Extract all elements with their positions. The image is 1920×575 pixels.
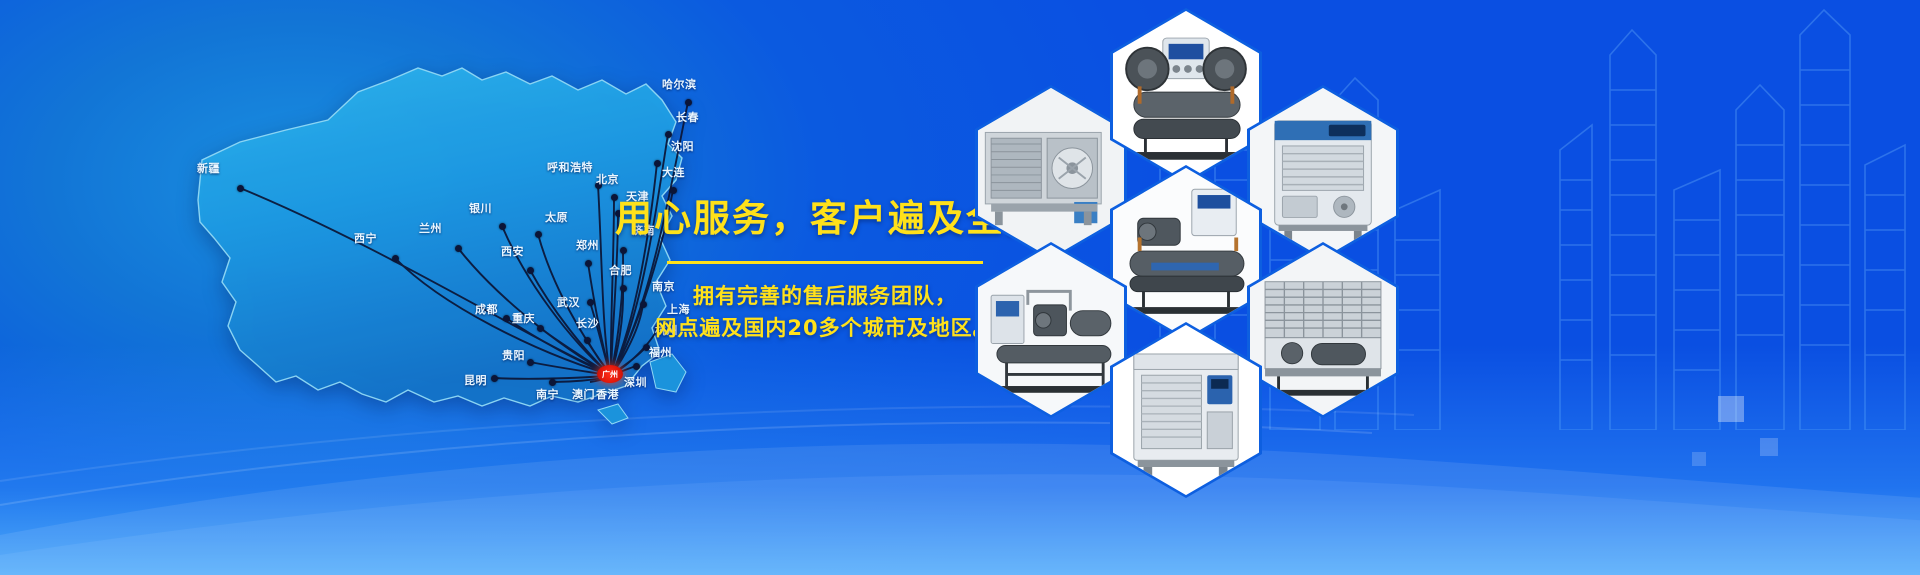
city-label-beijing: 北京	[596, 171, 619, 187]
city-dot-shenyang	[654, 160, 661, 167]
city-dot-kunming	[491, 375, 498, 382]
city-label-xinjiang: 新疆	[197, 160, 220, 176]
city-dot-xinjiang	[237, 185, 244, 192]
product-hex-open-frame-chiller[interactable]	[975, 242, 1127, 418]
headline-divider	[667, 261, 983, 264]
product-hex-finned-condenser-chiller[interactable]	[1247, 242, 1399, 418]
city-dot-nanning	[549, 379, 556, 386]
city-label-zhengzhou: 郑州	[576, 237, 599, 253]
city-dot-yinchuan	[499, 223, 506, 230]
city-label-lanzhou: 兰州	[419, 220, 442, 236]
city-label-chengdu: 成都	[475, 301, 498, 317]
air-cooled-condensing-unit-photo	[978, 88, 1124, 258]
product-hex-industrial-air-chiller[interactable]	[1247, 85, 1399, 261]
promotional-banner: 广州 新疆 哈尔滨 长春 沈阳 呼和浩特 北京 大连 天津 银川 太原 兰州 西…	[0, 0, 1920, 575]
city-label-taiyuan: 太原	[545, 209, 568, 225]
city-dot-xian	[527, 267, 534, 274]
city-label-hohhot: 呼和浩特	[547, 159, 593, 175]
city-label-xian: 西安	[501, 243, 524, 259]
decorative-square	[1760, 438, 1778, 456]
city-label-xining: 西宁	[354, 230, 377, 246]
city-dot-chengdu	[503, 315, 510, 322]
decorative-square	[1692, 452, 1706, 466]
box-type-water-chiller-photo	[1113, 325, 1259, 495]
product-hexagon-grid	[975, 0, 1515, 575]
finned-condenser-chiller-photo	[1250, 245, 1396, 415]
city-dot-xining	[392, 255, 399, 262]
open-frame-chiller-photo	[978, 245, 1124, 415]
industrial-air-chiller-photo	[1250, 88, 1396, 258]
city-label-fuzhou: 福州	[649, 344, 672, 360]
product-hex-screw-compressor-unit[interactable]	[1110, 165, 1262, 341]
city-label-changsha: 长沙	[576, 315, 599, 331]
city-dot-taiyuan	[535, 231, 542, 238]
city-label-harbin: 哈尔滨	[662, 76, 697, 92]
product-hex-box-type-water-chiller[interactable]	[1110, 322, 1262, 498]
city-dot-wuhan	[587, 299, 594, 306]
city-dot-lanzhou	[455, 245, 462, 252]
city-label-changchun: 长春	[676, 109, 699, 125]
city-dot-fuzhou	[633, 363, 640, 370]
city-label-macau: 澳门	[572, 386, 595, 402]
city-label-guiyang: 贵阳	[502, 347, 525, 363]
city-dot-chongqing	[537, 325, 544, 332]
banner-text-block: 用心服务，客户遍及全国 拥有完善的售后服务团队， 网点遍及国内20多个城市及地区…	[615, 198, 1035, 345]
city-dot-changchun	[665, 131, 672, 138]
banner-subtitle-line-1: 拥有完善的售后服务团队，	[615, 280, 1035, 313]
banner-subtitle-line-2: 网点遍及国内20多个城市及地区。	[615, 312, 1035, 345]
city-label-kunming: 昆明	[464, 372, 487, 388]
screw-compressor-unit-photo	[1113, 168, 1259, 338]
map-hub-marker: 广州	[597, 365, 623, 383]
banner-headline: 用心服务，客户遍及全国	[615, 198, 1035, 241]
decorative-square	[1718, 396, 1744, 422]
product-hex-air-cooled-condensing-unit[interactable]	[975, 85, 1127, 261]
city-dot-harbin	[685, 99, 692, 106]
city-label-hongkong: 香港	[596, 386, 619, 402]
city-label-wuhan: 武汉	[557, 294, 580, 310]
city-label-nanning: 南宁	[536, 386, 559, 402]
water-cooled-screw-chiller-photo	[1113, 11, 1259, 181]
city-dot-zhengzhou	[585, 260, 592, 267]
city-label-shenzhen: 深圳	[624, 374, 647, 390]
city-dot-changsha	[584, 337, 591, 344]
city-label-yinchuan: 银川	[469, 200, 492, 216]
city-label-dalian: 大连	[662, 164, 685, 180]
city-label-shenyang: 沈阳	[671, 138, 694, 154]
product-hex-water-cooled-screw-chiller[interactable]	[1110, 8, 1262, 184]
city-dot-guiyang	[527, 359, 534, 366]
city-dot-dalian	[670, 187, 677, 194]
city-label-chongqing: 重庆	[512, 310, 535, 326]
